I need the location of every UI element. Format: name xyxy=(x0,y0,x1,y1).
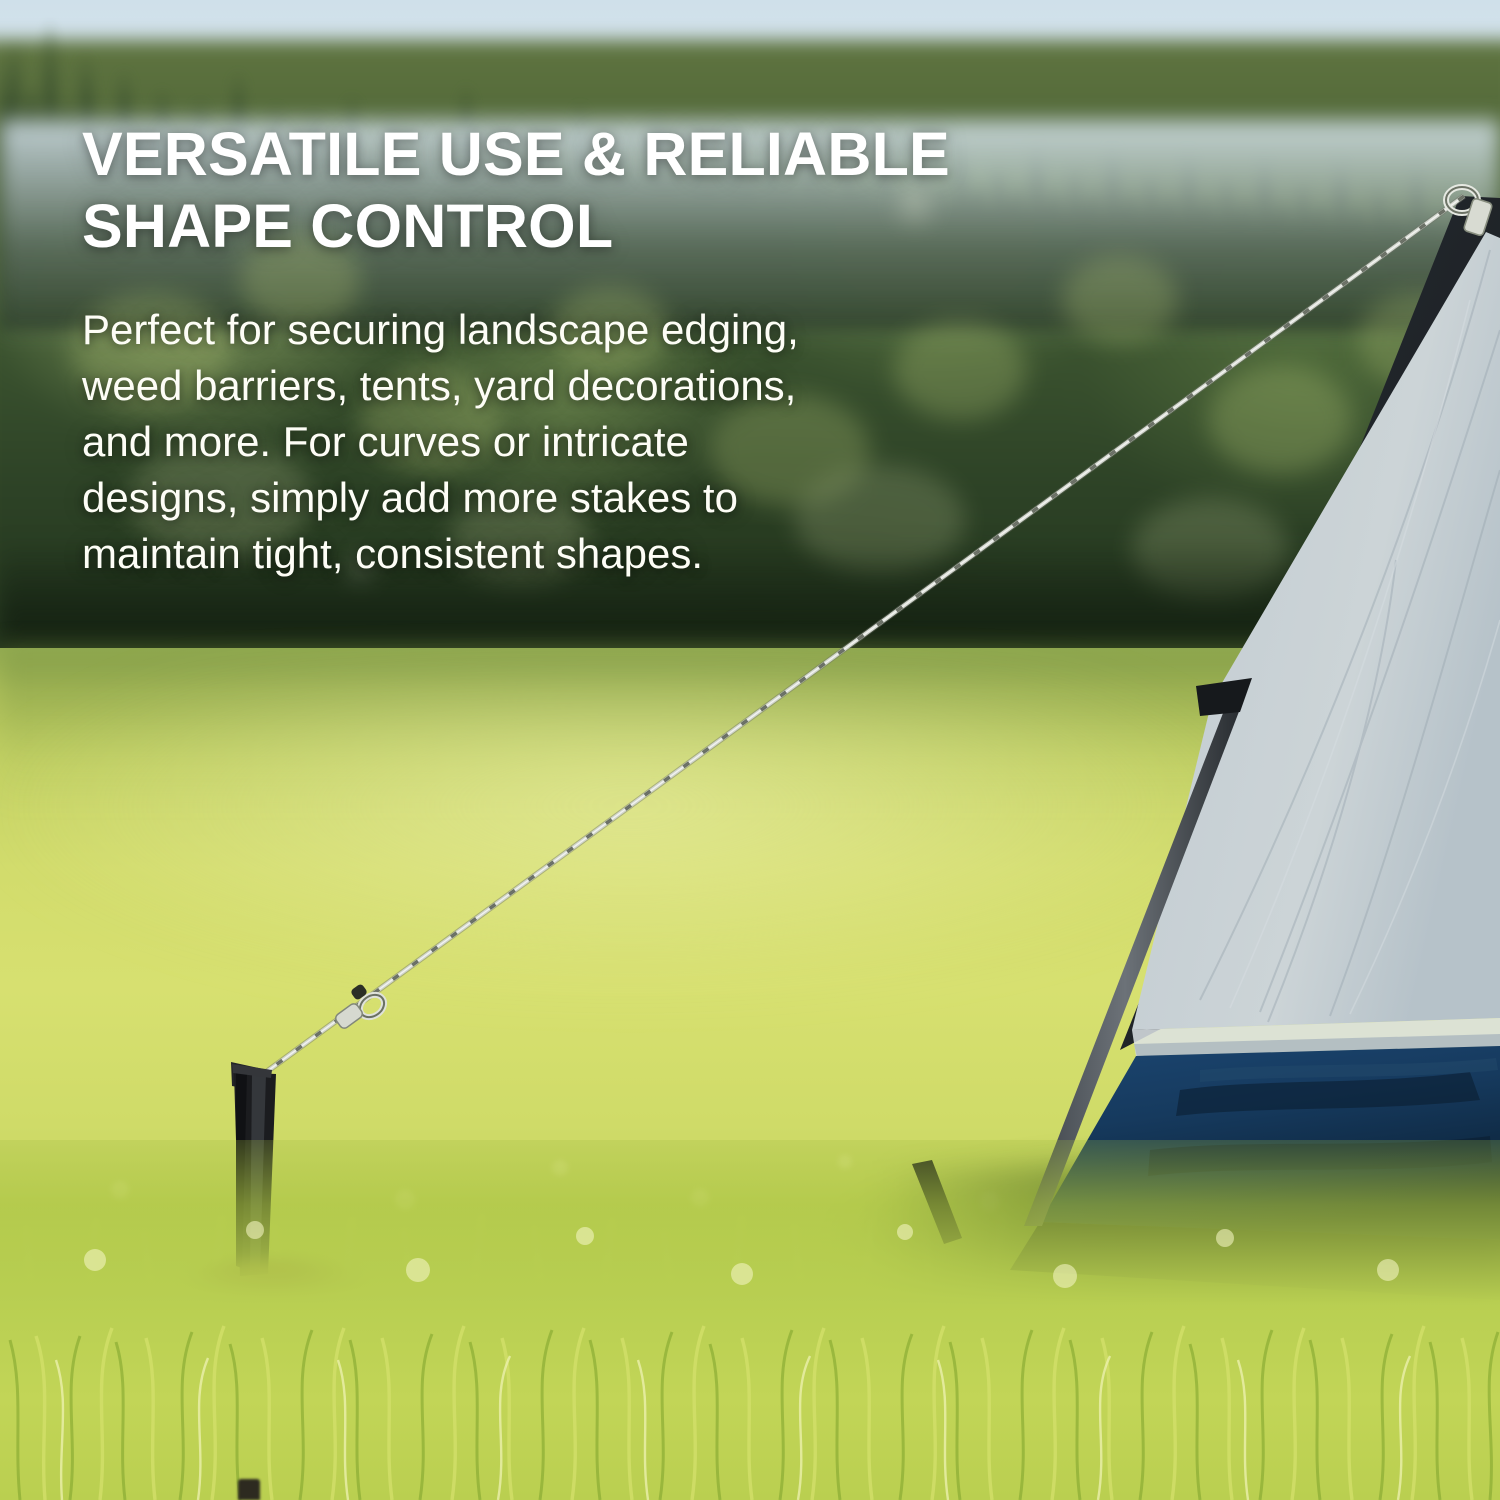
text-overlay: VERSATILE USE & RELIABLE SHAPE CONTROL P… xyxy=(82,118,1012,582)
body-paragraph: Perfect for securing landscape edging, w… xyxy=(82,302,817,582)
product-lifestyle-scene: VERSATILE USE & RELIABLE SHAPE CONTROL P… xyxy=(0,0,1500,1500)
bottom-edge-speck xyxy=(238,1479,260,1500)
foreground-grass xyxy=(0,1140,1500,1500)
page-title: VERSATILE USE & RELIABLE SHAPE CONTROL xyxy=(82,118,1002,262)
